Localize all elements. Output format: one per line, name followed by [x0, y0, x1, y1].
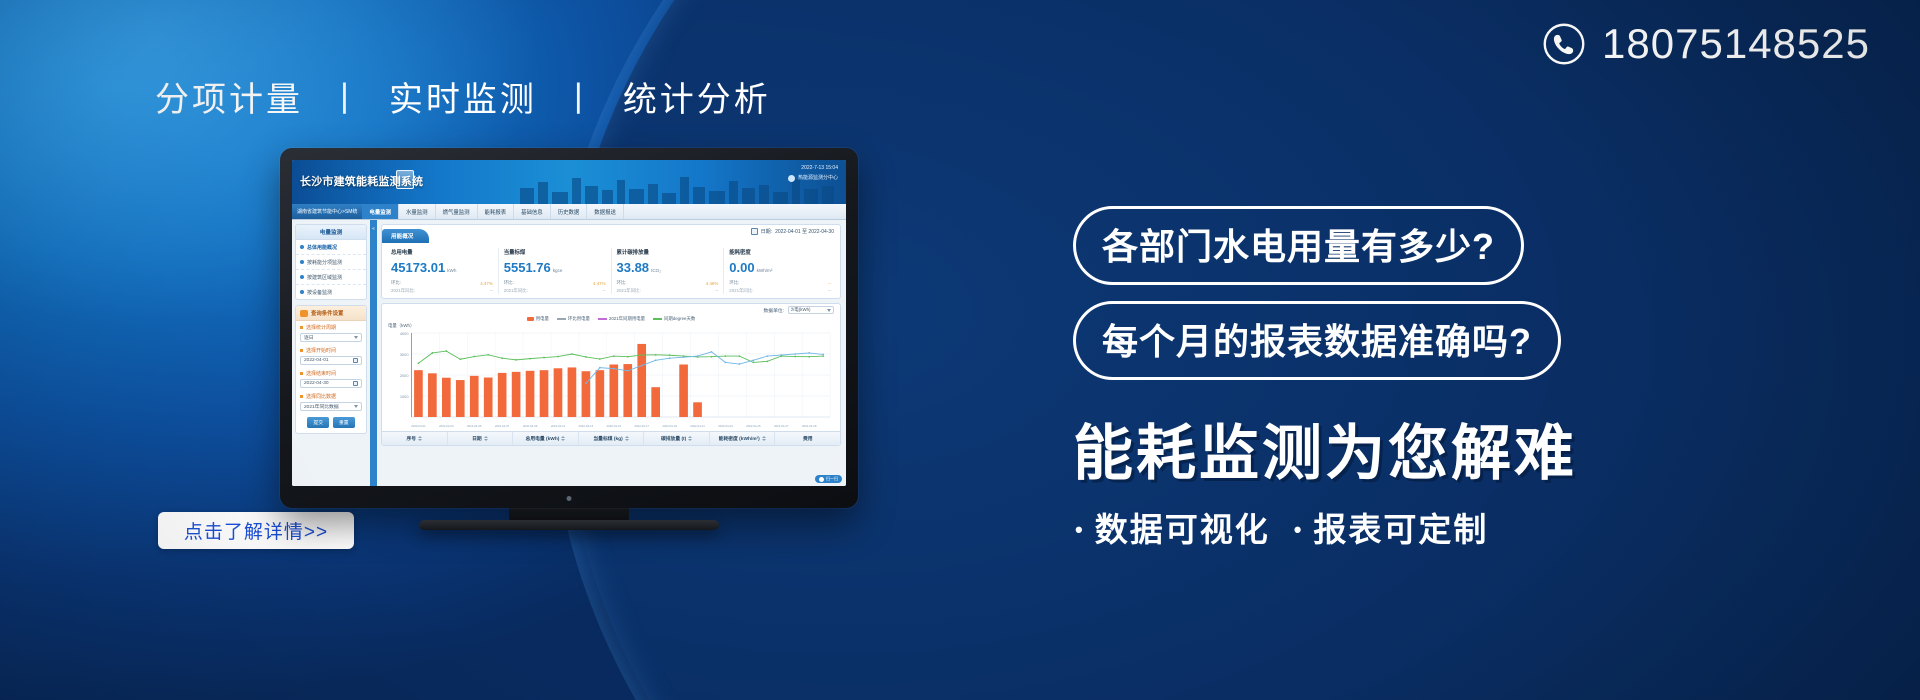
tab-water[interactable]: 水量监测: [399, 204, 436, 219]
kpi-unit: kWh/m²: [757, 268, 773, 273]
reset-button[interactable]: 重置: [333, 417, 355, 428]
date-range-label: 日期:: [761, 228, 772, 235]
chevron-down-icon: [827, 309, 831, 312]
tab-history[interactable]: 历史数据: [551, 204, 588, 219]
kpi-yoy: 2021年同比:--: [729, 288, 831, 294]
table-col-index[interactable]: 序号: [382, 432, 448, 445]
chart-panel: 数据单位: ží电(kWh) 用电量 环比用电量 2021年同期用电量 同期de…: [381, 303, 841, 446]
kpi-yoy-label: 2021年同比:: [504, 288, 528, 294]
sidebar-item-label: 总体用能概况: [307, 244, 337, 251]
legend-swatch: [653, 318, 662, 320]
kpi-compare-value: 4.47%: [593, 281, 605, 286]
chart-toolbar: 数据单位: ží电(kWh): [382, 304, 840, 314]
svg-text:3000: 3000: [400, 352, 409, 357]
svg-text:2022-04-29: 2022-04-29: [802, 424, 817, 428]
data-unit-label: 数据单位:: [763, 307, 784, 314]
sidebar-item-label: 按建筑区域监测: [307, 274, 342, 281]
query-actions: 提交 重置: [296, 413, 366, 433]
sort-icon: [484, 436, 488, 441]
svg-text:2022-04-01: 2022-04-01: [411, 424, 426, 428]
question-pill-2: 每个月的报表数据准确吗?: [1073, 301, 1561, 380]
kpi-yoy-label: 2021年同比:: [391, 288, 415, 294]
kpi-yoy: 2021年同比:--: [504, 288, 606, 294]
kpi-yoy-value: --: [603, 288, 606, 294]
bullet-icon: [300, 290, 304, 294]
yoy-select[interactable]: 2021年同比数据: [300, 402, 362, 411]
tagline-separator-2: 丨: [561, 72, 598, 121]
legend-swatch: [598, 318, 607, 320]
kpi-compare: 环比:4.47%: [391, 280, 493, 286]
svg-text:2000: 2000: [400, 373, 409, 378]
svg-text:4000: 4000: [400, 331, 409, 336]
legend-label: 用电量: [536, 316, 549, 322]
kpi-compare-label: 环比:: [504, 280, 514, 286]
svg-text:2022-04-11: 2022-04-11: [551, 424, 566, 428]
query-field-label: 选择同比数据: [300, 393, 362, 400]
svg-text:2022-04-03: 2022-04-03: [439, 424, 454, 428]
monitor-stand-base: [419, 520, 719, 530]
tagline: 分项计量 丨 实时监测 丨 统计分析: [155, 72, 771, 121]
kpi-compare-value: --: [828, 281, 831, 286]
calendar-icon: [751, 228, 758, 235]
legend-item[interactable]: 2021年同期用电量: [598, 316, 645, 322]
calendar-icon: [353, 381, 358, 386]
sidebar-item-label: 按设备监测: [307, 289, 332, 296]
svg-text:2022-04-13: 2022-04-13: [579, 424, 594, 428]
kpi-title: 当量标煤: [504, 248, 606, 256]
kpi-yoy-value: --: [715, 288, 718, 294]
panel-tab-label: 用能概况: [382, 229, 429, 243]
filter-icon: [300, 310, 308, 317]
main-content: 用能概况 日期: 2022-04-01 至 2022-04-30 总用电量 45…: [377, 220, 846, 486]
legend-item[interactable]: 同期degree天数: [653, 316, 695, 322]
legend-swatch: [527, 317, 534, 321]
end-date-value: 2022-04-30: [304, 381, 329, 386]
table-col-density[interactable]: 能耗密度 (kWh/m²): [710, 432, 776, 445]
start-date-value: 2022-04-01: [304, 358, 329, 363]
calendar-icon: [353, 358, 358, 363]
legend-item[interactable]: 用电量: [527, 316, 549, 322]
kpi-card: 能耗密度 0.00kWh/m² 环比:-- 2021年同比:--: [724, 248, 836, 294]
app-nav: 湖南省建筑节能中心>SM统 电量监测 水量监测 燃气量监测 能耗报表 基础信息 …: [292, 204, 846, 220]
svg-text:1000: 1000: [400, 394, 409, 399]
table-col-coal[interactable]: 当量标煤 (kg): [579, 432, 645, 445]
kpi-compare: 环比:4.47%: [504, 280, 606, 286]
kpi-value: 33.88: [617, 260, 650, 275]
kpi-compare-value: 4.47%: [480, 281, 492, 286]
tagline-separator-1: 丨: [327, 72, 364, 121]
kpi-card: 总用电量 45173.01kWh 环比:4.47% 2021年同比:--: [386, 248, 499, 294]
query-field-yoy: 选择同比数据 2021年同比数据: [296, 390, 366, 413]
nav-home[interactable]: 湖南省建筑节能中心>SM统: [292, 204, 362, 219]
kpi-unit: kWh: [447, 268, 456, 273]
bullet-icon: [300, 260, 304, 264]
header-time: 2022-7-13 15:04: [788, 165, 838, 173]
svg-text:2022-04-25: 2022-04-25: [746, 424, 761, 428]
kpi-title: 累计碳排放量: [617, 248, 719, 256]
bullet-icon: [300, 245, 304, 249]
svg-text:2022-04-21: 2022-04-21: [690, 424, 705, 428]
header-meta: 2022-7-13 15:04 热能源监测分中心: [788, 165, 838, 182]
bullet-mark-1: •: [1075, 517, 1085, 543]
kpi-compare-label: 环比:: [617, 280, 627, 286]
data-table-header: 序号 日期 总用电量 (kWh) 当量标煤 (kg) 碳排放量 (t) 能耗密度…: [382, 431, 840, 445]
query-panel-title: 查询条件设置: [296, 306, 366, 321]
feature-bullets: •数据可视化•报表可定制: [1073, 503, 1873, 551]
app-body: 电量监测 总体用能概况 按耗能分项监测 按建筑区域监测: [292, 220, 846, 486]
table-col-cost[interactable]: 费用: [775, 432, 840, 445]
kpi-compare-label: 环比:: [391, 280, 401, 286]
bullet-2: 报表可定制: [1313, 511, 1488, 548]
chart-canvas: 10002000300040002022-04-012022-04-032022…: [386, 323, 836, 431]
kpi-compare: 环比:4.46%: [617, 280, 719, 286]
svg-text:2022-04-15: 2022-04-15: [607, 424, 622, 428]
date-range-value: 2022-04-01 至 2022-04-30: [775, 228, 834, 235]
sidebar-collapse-handle[interactable]: «: [370, 220, 377, 486]
tab-electricity[interactable]: 电量监测: [362, 204, 399, 219]
panel-date-range[interactable]: 日期: 2022-04-01 至 2022-04-30: [751, 228, 834, 235]
end-date-input[interactable]: 2022-04-30: [300, 379, 362, 388]
tab-basic-info[interactable]: 基础信息: [514, 204, 551, 219]
question-pill-1: 各部门水电用量有多少?: [1073, 206, 1524, 285]
kpi-title: 总用电量: [391, 248, 493, 256]
query-field-label: 选择开始时间: [300, 347, 362, 354]
svg-text:2022-04-07: 2022-04-07: [495, 424, 510, 428]
learn-more-button[interactable]: 点击了解详情>>: [158, 512, 354, 549]
app-sidebar: 电量监测 总体用能概况 按耗能分项监测 按建筑区域监测: [292, 220, 370, 486]
phone-circle-icon: [1542, 22, 1586, 66]
app-header: 长沙市建筑能耗监测系统 2022-7-13 15:04 热能源监测分中心: [292, 160, 846, 204]
table-col-carbon[interactable]: 碳排放量 (t): [644, 432, 710, 445]
kpi-yoy-label: 2021年同比:: [729, 288, 753, 294]
kpi-title: 能耗密度: [729, 248, 831, 256]
kpi-compare: 环比:--: [729, 280, 831, 286]
svg-text:2022-04-05: 2022-04-05: [467, 424, 482, 428]
query-panel: 查询条件设置 选择统计周期 逐日 选择开始时间: [295, 305, 367, 434]
bullet-1: 数据可视化: [1095, 511, 1270, 548]
start-date-input[interactable]: 2022-04-01: [300, 356, 362, 365]
legend-label: 环比用电量: [568, 316, 590, 322]
table-col-total[interactable]: 总用电量 (kWh): [513, 432, 579, 445]
data-unit-value: ží电(kWh): [791, 307, 811, 313]
query-field-start: 选择开始时间 2022-04-01: [296, 344, 366, 367]
sidebar-item-by-device[interactable]: 按设备监测: [296, 285, 366, 299]
tab-gas[interactable]: 燃气量监测: [436, 204, 478, 219]
sidebar-section-title: 电量监测: [296, 225, 366, 240]
kpi-value: 45173.01: [391, 260, 445, 275]
yoy-select-value: 2021年同比数据: [304, 403, 339, 410]
header-user[interactable]: 热能源监测分中心: [788, 175, 838, 183]
kpi-value: 5551.76: [504, 260, 551, 275]
marketing-copy: 各部门水电用量有多少? 每个月的报表数据准确吗? 能耗监测为您解难 •数据可视化…: [1073, 206, 1873, 551]
bullet-mark-2: •: [1294, 517, 1304, 543]
query-field-end: 选择结束时间 2022-04-30: [296, 367, 366, 390]
tagline-part-2: 实时监测: [389, 81, 537, 119]
legend-label: 2021年同期用电量: [609, 316, 645, 322]
chart-legend: 用电量 环比用电量 2021年同期用电量 同期degree天数: [382, 314, 840, 323]
header-user-name: 热能源监测分中心: [798, 175, 838, 183]
svg-text:2022-04-09: 2022-04-09: [523, 424, 538, 428]
sort-icon: [762, 436, 766, 441]
bullet-icon: [300, 275, 304, 279]
kpi-yoy: 2021年同比:--: [391, 288, 493, 294]
app-screen: 长沙市建筑能耗监测系统 2022-7-13 15:04 热能源监测分中心 湖南省…: [292, 160, 846, 486]
kpi-card: 当量标煤 5551.76kgce 环比:4.47% 2021年同比:--: [499, 248, 612, 294]
sort-icon: [688, 436, 692, 441]
sidebar-menu-card: 电量监测 总体用能概况 按耗能分项监测 按建筑区域监测: [295, 224, 367, 300]
sidebar-item-by-area[interactable]: 按建筑区域监测: [296, 270, 366, 285]
legend-swatch: [557, 318, 566, 320]
kpi-yoy-value: --: [828, 288, 831, 294]
data-unit-select[interactable]: ží电(kWh): [788, 306, 834, 314]
legend-item[interactable]: 环比用电量: [557, 316, 590, 322]
qr-badge[interactable]: 扫一扫: [815, 475, 842, 483]
sidebar-item-label: 按耗能分项监测: [307, 259, 342, 266]
user-avatar-icon: [788, 175, 795, 182]
svg-text:2022-04-27: 2022-04-27: [774, 424, 789, 428]
kpi-unit: tCO₂: [651, 268, 661, 273]
sort-icon: [625, 436, 629, 441]
svg-text:2022-04-23: 2022-04-23: [718, 424, 733, 428]
kpi-yoy-value: --: [490, 288, 493, 294]
kpi-row: 总用电量 45173.01kWh 环比:4.47% 2021年同比:-- 当量标…: [382, 243, 840, 298]
chevron-down-icon: [354, 405, 358, 408]
phone-number: 18075148525: [1602, 23, 1870, 65]
tagline-part-3: 统计分析: [623, 81, 771, 119]
sidebar-item-by-category[interactable]: 按耗能分项监测: [296, 255, 366, 270]
kpi-yoy-label: 2021年同比:: [617, 288, 641, 294]
kpi-card: 累计碳排放量 33.88tCO₂ 环比:4.46% 2021年同比:--: [612, 248, 725, 294]
tab-reports[interactable]: 能耗报表: [478, 204, 515, 219]
promo-banner: 18075148525 分项计量 丨 实时监测 丨 统计分析 点击了解详情>> …: [0, 0, 1920, 700]
monitor-mockup: 长沙市建筑能耗监测系统 2022-7-13 15:04 热能源监测分中心 湖南省…: [280, 148, 858, 508]
svg-text:2022-04-19: 2022-04-19: [662, 424, 677, 428]
chevron-down-icon: [354, 336, 358, 339]
query-title-label: 查询条件设置: [311, 309, 343, 317]
sidebar-item-overview[interactable]: 总体用能概况: [296, 240, 366, 255]
period-select-value: 逐日: [304, 334, 314, 341]
kpi-compare-value: 4.46%: [706, 281, 718, 286]
query-field-label: 选择统计周期: [300, 324, 362, 331]
tagline-part-1: 分项计量: [155, 81, 303, 119]
table-col-date[interactable]: 日期: [448, 432, 514, 445]
headline: 能耗监测为您解难: [1073, 422, 1873, 485]
period-select[interactable]: 逐日: [300, 333, 362, 342]
kpi-value: 0.00: [729, 260, 754, 275]
qr-icon: [819, 477, 824, 482]
sort-icon: [418, 436, 422, 441]
overview-panel: 用能概况 日期: 2022-04-01 至 2022-04-30 总用电量 45…: [381, 224, 841, 299]
query-field-label: 选择结束时间: [300, 370, 362, 377]
contact-phone[interactable]: 18075148525: [1542, 22, 1870, 66]
kpi-compare-label: 环比:: [729, 280, 739, 286]
qr-badge-label: 扫一扫: [826, 476, 838, 482]
kpi-unit: kgce: [553, 268, 563, 273]
query-field-period: 选择统计周期 逐日: [296, 321, 366, 344]
energy-chart: 电量（kWh） 10002000300040002022-04-012022-0…: [386, 323, 836, 431]
svg-text:2022-04-17: 2022-04-17: [634, 424, 649, 428]
sort-icon: [561, 436, 565, 441]
app-logo-icon: [396, 170, 414, 189]
kpi-yoy: 2021年同比:--: [617, 288, 719, 294]
legend-label: 同期degree天数: [664, 316, 695, 322]
tab-data-submit[interactable]: 数据报送: [587, 204, 624, 219]
chart-y-axis-title: 电量（kWh）: [388, 323, 414, 329]
submit-button[interactable]: 提交: [307, 417, 329, 428]
